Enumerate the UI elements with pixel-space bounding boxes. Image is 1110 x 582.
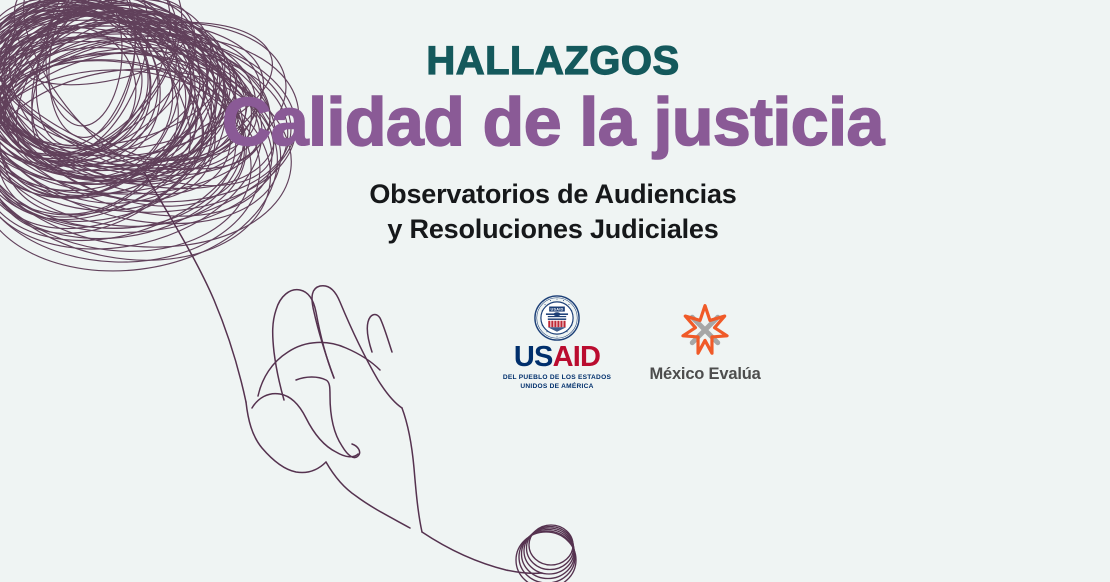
eyebrow-hallazgos: HALLAZGOS — [208, 40, 898, 82]
usaid-tagline: DEL PUEBLO DE LOS ESTADOS UNIDOS DE AMÉR… — [492, 374, 622, 392]
subtitle-block: Observatorios de Audiencias y Resolucion… — [208, 177, 898, 247]
coil-spiral-illustration — [516, 525, 576, 582]
subtitle-line-1: Observatorios de Audiencias — [369, 179, 736, 209]
usaid-wordmark-aid: AID — [553, 341, 601, 373]
usaid-seal-icon: USAID — [534, 295, 580, 341]
eight-point-star-icon — [676, 301, 734, 359]
tail-line — [422, 532, 542, 573]
usaid-wordmark: USAID — [492, 343, 622, 372]
pinching-hand-line-illustration — [246, 286, 422, 532]
usaid-tagline-line-2: UNIDOS DE AMÉRICA — [492, 383, 622, 392]
logo-strip: USAID — [480, 295, 780, 395]
usaid-tagline-line-1: DEL PUEBLO DE LOS ESTADOS — [492, 374, 622, 383]
mexico-evalua-wordmark: México Evalúa — [630, 365, 780, 384]
headline-block: HALLAZGOS Calidad de la justicia Observa… — [208, 40, 898, 248]
svg-text:USAID: USAID — [551, 307, 564, 311]
usaid-wordmark-us: US — [514, 341, 553, 373]
subtitle-line-2: y Resoluciones Judiciales — [208, 212, 898, 247]
poster-canvas: HALLAZGOS Calidad de la justicia Observa… — [0, 0, 1110, 582]
mexico-evalua-logo: México Evalúa — [630, 301, 780, 384]
page-title: Calidad de la justicia — [208, 88, 898, 157]
usaid-logo: USAID — [492, 295, 622, 392]
